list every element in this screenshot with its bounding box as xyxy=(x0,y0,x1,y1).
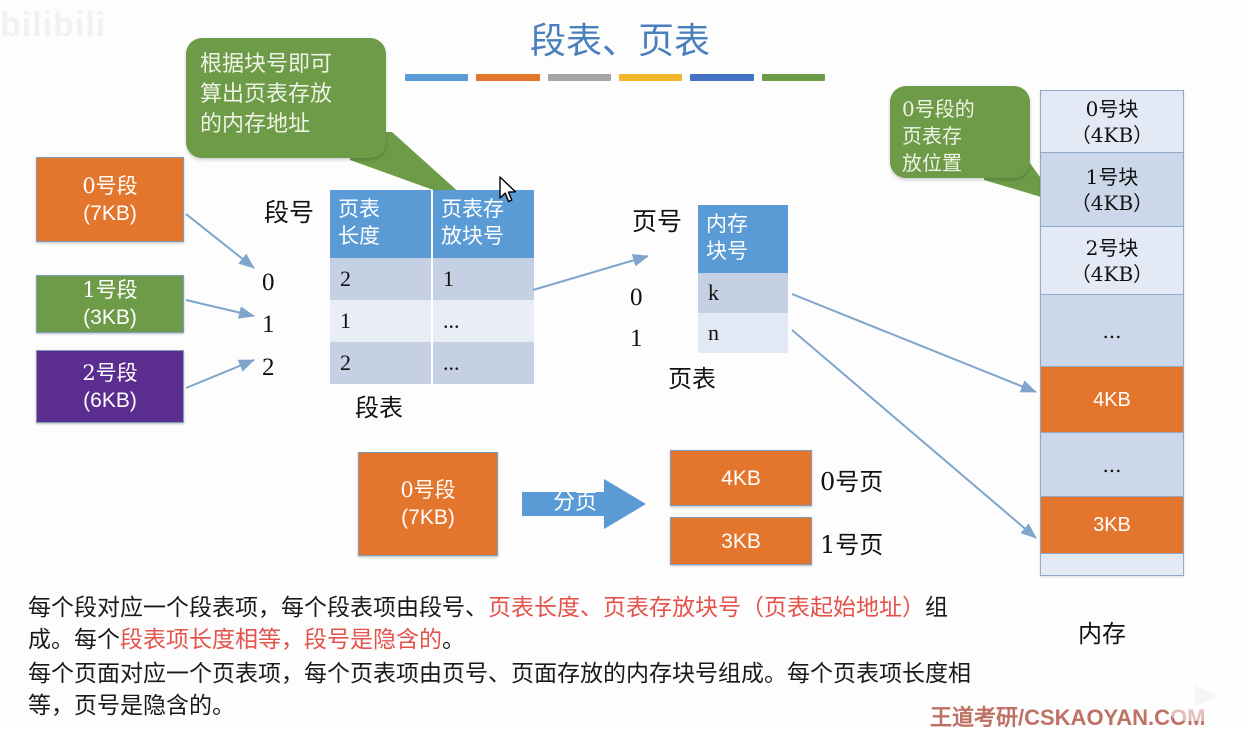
segment-row-index-0: 0 xyxy=(262,268,286,298)
slide-canvas: bilibili 段表、页表 根据块号即可 算出页表存放 的内存地址 0号段的 … xyxy=(0,0,1248,726)
paging-arrow-label: 分页 xyxy=(540,488,610,518)
page-row-index-0: 0 xyxy=(630,283,654,313)
callout-right: 0号段的 页表存 放位置 xyxy=(890,86,1030,178)
memory-cell-0: 0号块（4KB） xyxy=(1041,91,1183,153)
memory-caption: 内存 xyxy=(1078,618,1188,650)
table-row: k xyxy=(698,273,788,313)
bilibili-tv-logo-icon xyxy=(1160,655,1246,727)
segment-table-cell-len-1: 1 xyxy=(330,300,433,342)
callout-left: 根据块号即可 算出页表存放 的内存地址 xyxy=(186,38,386,158)
page-table-header-memory-block: 内存 块号 xyxy=(698,205,788,273)
memory-cell-6: 3KB xyxy=(1041,497,1183,554)
memory-cell-3: ... xyxy=(1041,295,1183,367)
segment-block-0-label: 0号段 xyxy=(82,173,137,200)
memory-cell-line2: （4KB） xyxy=(1071,261,1153,287)
segment-block-1: 1号段 (3KB) xyxy=(36,275,184,333)
memory-column: 0号块（4KB）1号块（4KB）2号块（4KB）...4KB...3KB xyxy=(1040,90,1184,576)
memory-cell-5: ... xyxy=(1041,433,1183,497)
segment-table-cell-blk-0: 1 xyxy=(433,258,534,300)
table-row: 2 ... xyxy=(330,342,534,384)
paging-source-size: (7KB) xyxy=(401,504,455,532)
page-table: 内存 块号 k n xyxy=(698,205,788,353)
title-bar-2 xyxy=(548,74,611,81)
memory-cell-line1: 3KB xyxy=(1093,512,1131,538)
memory-cell-line2: （4KB） xyxy=(1071,190,1153,216)
callout-right-line-1: 0号段的 xyxy=(902,96,1018,123)
memory-cell-line1: 1号块 xyxy=(1086,164,1139,190)
callout-left-line-2: 算出页表存放 xyxy=(200,80,372,110)
title-bar-1 xyxy=(476,74,539,81)
segment-table-cell-len-0: 2 xyxy=(330,258,433,300)
memory-cell-line1: ... xyxy=(1102,452,1121,478)
header-cell-line: 长度 xyxy=(338,223,423,250)
page-block-0-label: 0号页 xyxy=(820,462,883,497)
segment-table-cell-blk-1: ... xyxy=(433,300,534,342)
paging-source-block: 0号段 (7KB) xyxy=(358,452,498,556)
segment-block-2-label: 2号段 xyxy=(82,360,137,387)
memory-cell-line1: 2号块 xyxy=(1086,235,1139,261)
header-cell-line: 页表 xyxy=(338,196,423,223)
page-table-caption: 页表 xyxy=(668,363,778,395)
title-bar-4 xyxy=(690,74,753,81)
memory-cell-4: 4KB xyxy=(1041,367,1183,433)
page-table-header-row: 内存 块号 xyxy=(698,205,788,273)
memory-cell-line2: （4KB） xyxy=(1071,122,1153,148)
mouse-pointer-icon xyxy=(498,176,520,206)
memory-cell-line1: ... xyxy=(1102,318,1121,344)
segment-block-0-size: (7KB) xyxy=(83,200,137,227)
title-bar-5 xyxy=(762,74,825,81)
explanatory-paragraph-1: 每个段对应一个段表项，每个段表项由段号、页表长度、页表存放块号（页表起始地址）组… xyxy=(28,592,988,656)
page-block-0: 4KB xyxy=(670,450,812,506)
segment-block-0: 0号段 (7KB) xyxy=(36,157,184,242)
page-table-cell-1: n xyxy=(698,313,788,353)
header-cell-line: 放块号 xyxy=(441,223,526,250)
segment-block-2: 2号段 (6KB) xyxy=(36,350,184,423)
explanatory-text: 每个段对应一个段表项，每个段表项由段号、页表长度、页表存放块号（页表起始地址）组… xyxy=(28,592,988,724)
segment-table-header-page-table-length: 页表 长度 xyxy=(330,190,433,258)
page-row-index-1: 1 xyxy=(630,324,654,354)
segment-block-1-label: 1号段 xyxy=(82,277,137,304)
memory-cell-1: 1号块（4KB） xyxy=(1041,153,1183,227)
page-title: 段表、页表 xyxy=(470,18,770,66)
paging-source-label: 0号段 xyxy=(400,476,455,504)
callout-left-line-1: 根据块号即可 xyxy=(200,50,372,80)
header-cell-line: 内存 xyxy=(706,211,780,238)
memory-cell-line1: 4KB xyxy=(1093,387,1131,413)
segment-number-label: 段号 xyxy=(264,196,334,230)
memory-cell-2: 2号块（4KB） xyxy=(1041,227,1183,295)
page-block-1-label: 1号页 xyxy=(820,525,883,560)
table-row: n xyxy=(698,313,788,353)
title-decorative-bars xyxy=(405,74,825,84)
highlighted-text: 段表项长度相等，段号是隐含的 xyxy=(120,627,442,653)
callout-right-line-3: 放位置 xyxy=(902,150,1018,177)
plain-text: 。 xyxy=(442,627,465,653)
memory-cell-7 xyxy=(1041,554,1183,575)
segment-row-index-2: 2 xyxy=(262,353,286,383)
callout-left-line-3: 的内存地址 xyxy=(200,110,372,140)
page-number-label: 页号 xyxy=(632,205,702,239)
segment-table-cell-blk-2: ... xyxy=(433,342,534,384)
table-row: 1 ... xyxy=(330,300,534,342)
segment-block-2-size: (6KB) xyxy=(83,387,137,414)
table-row: 2 1 xyxy=(330,258,534,300)
plain-text: 每个页面对应一个页表项，每个页表项由页号、页面存放的内存块号组成。每个页表项长度… xyxy=(28,661,971,719)
title-bar-3 xyxy=(619,74,682,81)
segment-row-index-1: 1 xyxy=(262,310,286,340)
callout-right-line-2: 页表存 xyxy=(902,123,1018,150)
segment-table-caption: 段表 xyxy=(355,392,475,424)
explanatory-paragraph-2: 每个页面对应一个页表项，每个页表项由页号、页面存放的内存块号组成。每个页表项长度… xyxy=(28,658,988,722)
page-block-1: 3KB xyxy=(670,517,812,565)
header-cell-line: 块号 xyxy=(706,238,780,265)
page-table-cell-0: k xyxy=(698,273,788,313)
plain-text: 每个段对应一个段表项，每个段表项由段号、 xyxy=(28,595,488,621)
segment-table-cell-len-2: 2 xyxy=(330,342,433,384)
segment-block-1-size: (3KB) xyxy=(83,304,137,331)
title-bar-0 xyxy=(405,74,468,81)
highlighted-text: 页表长度、页表存放块号（页表起始地址） xyxy=(488,595,925,621)
memory-cell-line1: 0号块 xyxy=(1086,96,1139,122)
segment-table: 页表 长度 页表存 放块号 2 1 1 ... 2 ... xyxy=(330,190,534,384)
